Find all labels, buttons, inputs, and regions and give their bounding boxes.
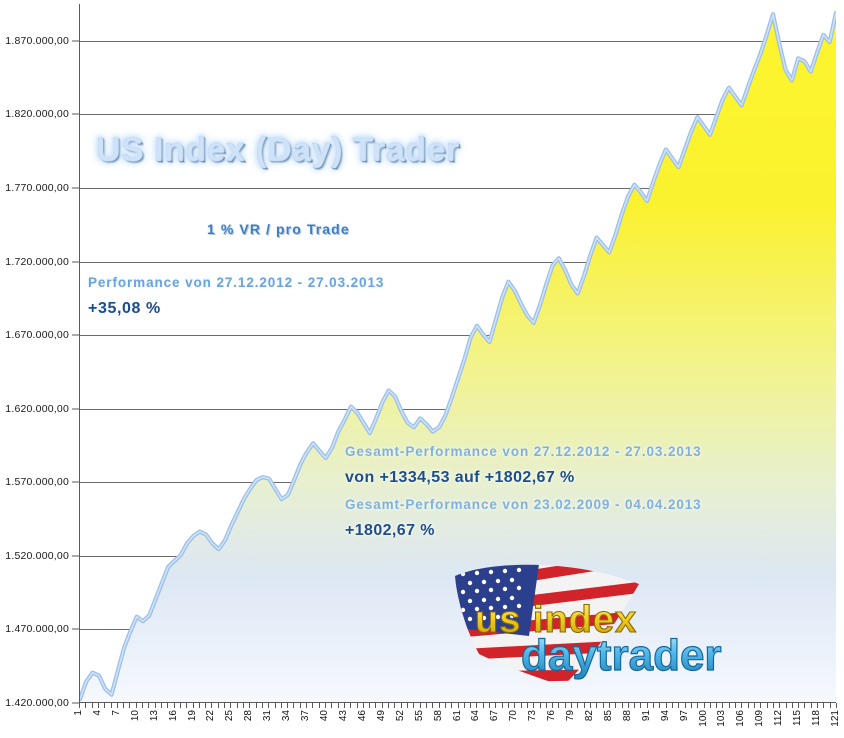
x-axis-tick-mark xyxy=(779,703,780,708)
chart-subtitle: 1 % VR / pro Trade xyxy=(207,221,350,237)
x-axis-tick-label: 31 xyxy=(263,710,273,721)
gesamt-performance-1-label: Gesamt-Performance von 27.12.2012 - 27.0… xyxy=(345,444,702,459)
page-title: US Index (Day) Trader xyxy=(96,131,460,170)
x-axis-tick-mark xyxy=(312,703,313,708)
y-axis-tick-mark xyxy=(72,555,79,556)
x-axis-tick-mark xyxy=(647,703,648,708)
x-axis-tick-mark xyxy=(375,703,376,708)
x-axis-tick-mark xyxy=(514,703,515,708)
x-axis-tick-mark xyxy=(735,703,736,708)
equity-curve-series xyxy=(80,4,836,702)
x-axis-tick-label: 100 xyxy=(699,710,709,727)
x-axis-tick-mark xyxy=(142,703,143,708)
x-axis-tick-label: 19 xyxy=(188,710,198,721)
y-axis-tick-label: 1.770.000,00 xyxy=(5,182,69,194)
x-axis-tick-mark xyxy=(729,703,730,708)
x-axis-tick-label: 112 xyxy=(774,710,784,726)
x-axis-tick-mark xyxy=(319,703,320,708)
x-axis-tick-mark xyxy=(426,703,427,708)
x-axis-tick-label: 85 xyxy=(604,710,614,721)
x-axis-tick-mark xyxy=(640,703,641,708)
y-axis-tick-label: 1.720.000,00 xyxy=(5,256,69,268)
x-axis-tick-label: 94 xyxy=(661,710,671,721)
y-axis-tick-label: 1.420.000,00 xyxy=(5,697,69,709)
x-axis-tick-mark xyxy=(306,703,307,708)
x-axis-tick-label: 46 xyxy=(358,710,368,721)
x-axis-tick-label: 109 xyxy=(755,710,765,727)
x-axis-tick-mark xyxy=(527,703,528,708)
x-axis-tick-mark xyxy=(256,703,257,708)
x-axis-tick-mark xyxy=(123,703,124,708)
x-axis-tick-mark xyxy=(85,703,86,708)
y-axis-tick-mark xyxy=(72,187,79,188)
x-axis-tick-label: 7 xyxy=(112,710,122,716)
x-axis-tick-mark xyxy=(540,703,541,708)
x-axis-tick-mark xyxy=(615,703,616,708)
x-axis-tick-mark xyxy=(590,703,591,708)
x-axis-tick-mark xyxy=(451,703,452,708)
x-axis-tick-mark xyxy=(565,703,566,708)
x-axis-tick-label: 22 xyxy=(206,710,216,721)
x-axis-tick-label: 61 xyxy=(453,710,463,721)
x-axis-tick-mark xyxy=(350,703,351,708)
x-axis-tick-label: 1 xyxy=(74,710,84,716)
x-axis-tick-mark xyxy=(697,703,698,708)
y-axis-tick-label: 1.470.000,00 xyxy=(5,623,69,635)
x-axis-tick-label: 43 xyxy=(339,710,349,721)
x-axis-tick-mark xyxy=(792,703,793,708)
x-axis-tick-label: 13 xyxy=(150,710,160,721)
x-axis-tick-mark xyxy=(685,703,686,708)
x-axis-tick-mark xyxy=(193,703,194,708)
y-axis: 1.420.000,001.470.000,001.520.000,001.57… xyxy=(0,0,79,703)
x-axis-tick-mark xyxy=(603,703,604,708)
x-axis-tick-mark xyxy=(293,703,294,708)
chart-container: 1.420.000,001.470.000,001.520.000,001.57… xyxy=(0,0,844,738)
x-axis-tick-mark xyxy=(432,703,433,708)
x-axis-tick-mark xyxy=(817,703,818,708)
y-axis-tick-mark xyxy=(72,40,79,41)
x-axis-tick-mark xyxy=(748,703,749,708)
y-axis-tick-label: 1.670.000,00 xyxy=(5,329,69,341)
x-axis-tick-mark xyxy=(218,703,219,708)
x-axis-tick-mark xyxy=(205,703,206,708)
x-axis-tick-mark xyxy=(401,703,402,708)
x-axis-tick-mark xyxy=(458,703,459,708)
plot-area xyxy=(79,4,836,703)
gesamt-performance-2-label: Gesamt-Performance von 23.02.2009 - 04.0… xyxy=(345,497,702,512)
x-axis-tick-mark xyxy=(249,703,250,708)
y-axis-tick-mark xyxy=(72,335,79,336)
x-axis-tick-mark xyxy=(741,703,742,708)
x-axis-tick-label: 67 xyxy=(490,710,500,721)
x-axis-tick-mark xyxy=(483,703,484,708)
x-axis-tick-mark xyxy=(502,703,503,708)
x-axis-tick-label: 76 xyxy=(547,710,557,721)
x-axis-tick-label: 52 xyxy=(396,710,406,721)
x-axis-tick-mark xyxy=(489,703,490,708)
x-axis-tick-mark xyxy=(104,703,105,708)
x-axis-tick-label: 88 xyxy=(623,710,633,721)
area-fill xyxy=(80,13,836,702)
x-axis-tick-label: 121 xyxy=(831,710,841,727)
x-axis-tick-mark xyxy=(136,703,137,708)
x-axis-tick-mark xyxy=(111,703,112,708)
x-axis-tick-label: 106 xyxy=(736,710,746,727)
x-axis-tick-mark xyxy=(710,703,711,708)
x-axis-tick-mark xyxy=(836,703,837,708)
x-axis-tick-mark xyxy=(704,703,705,708)
x-axis-tick-label: 25 xyxy=(225,710,235,721)
x-axis-tick-mark xyxy=(558,703,559,708)
x-axis-tick-mark xyxy=(672,703,673,708)
x-axis-tick-mark xyxy=(622,703,623,708)
x-axis-tick-mark xyxy=(186,703,187,708)
x-axis-tick-label: 73 xyxy=(528,710,538,721)
x-axis-tick-mark xyxy=(495,703,496,708)
x-axis-tick-label: 49 xyxy=(377,710,387,721)
x-axis-tick-label: 79 xyxy=(566,710,576,721)
x-axis-tick-mark xyxy=(577,703,578,708)
x-axis-tick-mark xyxy=(211,703,212,708)
performance-value: +35,08 % xyxy=(88,300,161,318)
x-axis-tick-label: 58 xyxy=(434,710,444,721)
x-axis-tick-mark xyxy=(237,703,238,708)
x-axis-tick-mark xyxy=(300,703,301,708)
x-axis-tick-mark xyxy=(199,703,200,708)
x-axis-tick-label: 70 xyxy=(509,710,519,721)
x-axis-tick-mark xyxy=(470,703,471,708)
x-axis-tick-mark xyxy=(445,703,446,708)
x-axis-tick-label: 37 xyxy=(301,710,311,721)
x-axis-tick-mark xyxy=(716,703,717,708)
x-axis-tick-mark xyxy=(155,703,156,708)
y-axis-tick-mark xyxy=(72,261,79,262)
x-axis-tick-mark xyxy=(760,703,761,708)
x-axis-tick-mark xyxy=(722,703,723,708)
x-axis-tick-mark xyxy=(628,703,629,708)
x-axis-tick-mark xyxy=(798,703,799,708)
x-axis-tick-mark xyxy=(596,703,597,708)
x-axis-tick-mark xyxy=(823,703,824,708)
x-axis-tick-label: 4 xyxy=(93,710,103,716)
y-axis-tick-mark xyxy=(72,482,79,483)
x-axis-tick-label: 97 xyxy=(680,710,690,721)
x-axis-tick-mark xyxy=(331,703,332,708)
x-axis-tick-mark xyxy=(754,703,755,708)
gesamt-performance-1-value: von +1334,53 auf +1802,67 % xyxy=(345,469,575,487)
x-axis-tick-mark xyxy=(369,703,370,708)
x-axis-tick-label: 64 xyxy=(471,710,481,721)
x-axis-tick-mark xyxy=(338,703,339,708)
y-axis-tick-mark xyxy=(72,629,79,630)
x-axis-tick-label: 10 xyxy=(131,710,141,721)
x-axis-tick-label: 40 xyxy=(320,710,330,721)
x-axis-tick-mark xyxy=(230,703,231,708)
x-axis-tick-mark xyxy=(571,703,572,708)
x-axis-tick-mark xyxy=(363,703,364,708)
x-axis-tick-mark xyxy=(287,703,288,708)
x-axis-tick-mark xyxy=(508,703,509,708)
x-axis-tick-mark xyxy=(407,703,408,708)
x-axis-tick-mark xyxy=(420,703,421,708)
x-axis-tick-mark xyxy=(129,703,130,708)
x-axis-tick-mark xyxy=(830,703,831,708)
x-axis-tick-mark xyxy=(174,703,175,708)
x-axis-tick-label: 34 xyxy=(282,710,292,721)
x-axis-tick-label: 103 xyxy=(717,710,727,727)
x-axis-tick-mark xyxy=(388,703,389,708)
gesamt-performance-2-value: +1802,67 % xyxy=(345,522,435,540)
x-axis: 1471013161922252831343740434649525558616… xyxy=(79,703,836,738)
x-axis-tick-mark xyxy=(117,703,118,708)
x-axis-tick-mark xyxy=(653,703,654,708)
x-axis-tick-mark xyxy=(357,703,358,708)
x-axis-tick-mark xyxy=(786,703,787,708)
x-axis-tick-label: 16 xyxy=(169,710,179,721)
x-axis-tick-label: 115 xyxy=(793,710,803,726)
y-axis-tick-label: 1.820.000,00 xyxy=(5,108,69,120)
x-axis-tick-label: 55 xyxy=(415,710,425,721)
x-axis-tick-label: 28 xyxy=(244,710,254,721)
x-axis-tick-mark xyxy=(98,703,99,708)
y-axis-tick-mark xyxy=(72,703,79,704)
x-axis-tick-label: 82 xyxy=(585,710,595,721)
x-axis-tick-mark xyxy=(243,703,244,708)
y-axis-tick-mark xyxy=(72,114,79,115)
x-axis-tick-mark xyxy=(262,703,263,708)
x-axis-tick-mark xyxy=(382,703,383,708)
x-axis-tick-mark xyxy=(691,703,692,708)
y-axis-tick-mark xyxy=(72,408,79,409)
x-axis-tick-mark xyxy=(773,703,774,708)
y-axis-tick-label: 1.870.000,00 xyxy=(5,35,69,47)
x-axis-tick-mark xyxy=(609,703,610,708)
x-axis-tick-mark xyxy=(79,703,80,708)
x-axis-tick-mark xyxy=(439,703,440,708)
x-axis-tick-mark xyxy=(767,703,768,708)
x-axis-tick-mark xyxy=(804,703,805,708)
y-axis-tick-label: 1.570.000,00 xyxy=(5,476,69,488)
x-axis-tick-mark xyxy=(811,703,812,708)
x-axis-tick-mark xyxy=(533,703,534,708)
x-axis-tick-mark xyxy=(464,703,465,708)
x-axis-tick-mark xyxy=(224,703,225,708)
x-axis-tick-mark xyxy=(325,703,326,708)
x-axis-tick-mark xyxy=(521,703,522,708)
x-axis-tick-mark xyxy=(659,703,660,708)
x-axis-tick-mark xyxy=(678,703,679,708)
x-axis-tick-mark xyxy=(666,703,667,708)
x-axis-tick-mark xyxy=(476,703,477,708)
x-axis-tick-mark xyxy=(167,703,168,708)
x-axis-tick-mark xyxy=(413,703,414,708)
x-axis-tick-mark xyxy=(344,703,345,708)
x-axis-tick-mark xyxy=(92,703,93,708)
x-axis-tick-mark xyxy=(275,703,276,708)
x-axis-tick-mark xyxy=(148,703,149,708)
x-axis-tick-mark xyxy=(161,703,162,708)
performance-period-label: Performance von 27.12.2012 - 27.03.2013 xyxy=(88,275,384,290)
x-axis-tick-mark xyxy=(584,703,585,708)
x-axis-tick-label: 118 xyxy=(812,710,822,726)
y-axis-tick-label: 1.520.000,00 xyxy=(5,550,69,562)
x-axis-tick-mark xyxy=(634,703,635,708)
x-axis-tick-mark xyxy=(552,703,553,708)
x-axis-tick-mark xyxy=(394,703,395,708)
x-axis-tick-label: 91 xyxy=(642,710,652,721)
x-axis-tick-mark xyxy=(268,703,269,708)
x-axis-tick-mark xyxy=(180,703,181,708)
x-axis-tick-mark xyxy=(281,703,282,708)
y-axis-tick-label: 1.620.000,00 xyxy=(5,403,69,415)
x-axis-tick-mark xyxy=(546,703,547,708)
